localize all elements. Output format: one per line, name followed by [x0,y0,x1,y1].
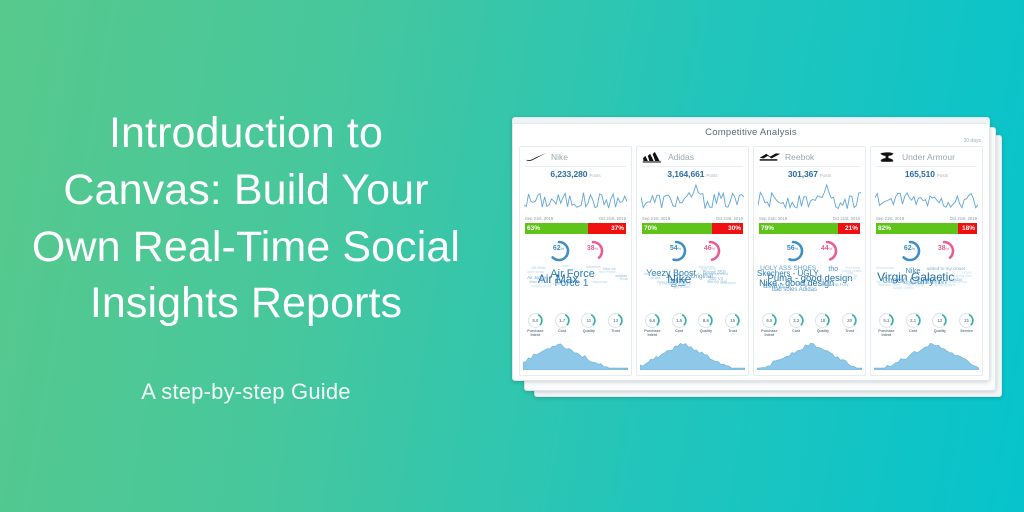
stack-layer-front: Competitive Analysis 30 days Nike6,233,2… [512,117,990,381]
date-start: Sep 21st, 2019 [876,216,904,221]
word-cloud-term[interactable]: Vapormax [592,281,607,284]
gauge-female-value: 38% [931,245,957,252]
metric-label: Trust [728,329,737,333]
metric-label: Purchase Intent [874,329,900,337]
metric-item[interactable]: 12Quality [927,313,953,337]
word-cloud-term[interactable]: new release [599,271,616,274]
word-cloud-term[interactable]: Adidas woman [893,287,914,290]
metric-item[interactable]: 1.7Cost [549,313,575,337]
metric-label: Service [960,329,973,333]
metric-label: Trust [611,329,620,333]
metric-item[interactable]: 5.0Purchase Intent [523,313,549,337]
word-cloud-term[interactable]: Under Armour [948,281,968,284]
reebok-vector-logo [759,151,781,164]
volume-sparkline [641,180,744,216]
gauge-male[interactable]: 62% [897,240,923,262]
word-cloud-term[interactable]: HOVR [962,272,971,275]
metric-gauge: 2.1 [906,313,921,328]
gauge-male-value: 62% [897,245,923,252]
brand-header: Under Armour [871,147,982,165]
metric-item[interactable]: 21Service [954,313,980,337]
word-cloud-term[interactable]: Jordan Retro [552,283,572,286]
date-end: Oct 21st, 2019 [950,216,977,221]
gauge-female[interactable]: 44% [814,240,840,262]
date-end: Oct 21st, 2019 [716,216,743,221]
metric-gauge: 5.1 [879,313,894,328]
brand-cards-container: Nike6,233,280PostsSep 21st, 2019Oct 21st… [513,146,989,380]
sparkline-date-axis: Sep 21st, 2019Oct 21st, 2019 [871,216,982,221]
metric-gauge: 12 [932,313,947,328]
metric-label: Cost [675,329,683,333]
word-cloud-term[interactable]: tho [828,266,838,273]
metric-gauge: 1.7 [555,313,570,328]
gender-gauges: 62%38% [871,234,982,265]
metric-gauge: 18 [815,313,830,328]
metric-label: Purchase Intent [757,329,783,337]
post-count-label: Posts [937,173,948,178]
volume-sparkline [524,180,627,216]
gauge-female[interactable]: 38% [580,240,606,262]
sentiment-negative: 18% [958,223,977,234]
gauge-male-value: 62% [546,245,572,252]
brand-card[interactable]: Adidas3,164,661PostsSep 21st, 2019Oct 21… [636,146,749,376]
page-subtitle: A step-by-step Guide [141,378,350,407]
nike-swoosh-logo [525,151,547,164]
dashboard-header: Competitive Analysis 30 days [513,124,989,146]
trend-area-chart [523,340,628,370]
metric-label: Quality [700,329,712,333]
sentiment-positive: 70% [642,223,712,234]
post-count: 3,164,661Posts [637,167,748,180]
post-count: 6,233,280Posts [520,167,631,180]
metric-gauge: 20 [842,313,857,328]
gauge-male-value: 54% [663,245,689,252]
metric-gauge: 5.0 [528,313,543,328]
metric-gauge: 6.5 [762,313,777,328]
gauge-male[interactable]: 54% [663,240,689,262]
post-count-value: 3,164,661 [667,169,704,179]
volume-sparkline [875,180,978,216]
word-cloud-term[interactable]: Zoom [561,265,570,268]
dashboard: Competitive Analysis 30 days Nike6,233,2… [513,118,989,380]
sentiment-negative: 21% [838,223,860,234]
date-end: Oct 21st, 2019 [599,216,626,221]
metric-item[interactable]: 2.1Cost [900,313,926,337]
sparkline-date-axis: Sep 21st, 2019Oct 21st, 2019 [520,216,631,221]
metric-label: Purchase Intent [523,329,549,337]
gauge-male[interactable]: 56% [780,240,806,262]
date-range-badge[interactable]: 30 days [963,138,981,144]
sentiment-negative: 37% [588,223,626,234]
date-start: Sep 21st, 2019 [525,216,553,221]
metric-label: Quality [934,329,946,333]
sparkline-date-axis: Sep 21st, 2019Oct 21st, 2019 [637,216,748,221]
metric-item[interactable]: 15Trust [720,313,746,337]
adidas-trefoil-logo [642,151,664,164]
metric-gauge: 1.5 [672,313,687,328]
word-cloud-term[interactable]: white shoes [527,271,544,274]
sentiment-negative: 30% [712,223,743,234]
gauge-female[interactable]: 46% [697,240,723,262]
gender-gauges: 56%44% [754,234,865,265]
metric-item[interactable]: 8.6Quality [693,313,719,337]
metric-label: Cost [792,329,800,333]
metric-gauge: 2.2 [789,313,804,328]
gender-gauges: 54%46% [637,234,748,265]
brand-card[interactable]: Under Armour165,510PostsSep 21st, 2019Oc… [870,146,983,376]
metric-label: Cost [909,329,917,333]
metric-gauge: 8.6 [698,313,713,328]
gauge-female[interactable]: 38% [931,240,957,262]
post-count-value: 6,233,280 [550,169,587,179]
gender-gauges: 62%38% [520,234,631,265]
sentiment-bar: 70%30% [642,223,743,234]
metric-gauge: 11 [581,313,596,328]
sentiment-positive: 79% [759,223,838,234]
gauge-female-value: 38% [580,245,606,252]
metric-gauge: 15 [725,313,740,328]
metrics-row: 5.0Purchase Intent1.7Cost11Quality13Trus… [520,312,631,337]
page-title: Introduction to Canvas: Build Your Own R… [26,105,466,332]
metric-gauge: 6.6 [645,313,660,328]
metric-label: Cost [558,329,566,333]
post-count-value: 301,367 [788,169,818,179]
metric-item[interactable]: 20Trust [837,313,863,337]
gauge-male[interactable]: 62% [546,240,572,262]
word-cloud-term[interactable]: sneakers [586,266,601,270]
trend-area-chart [640,340,745,370]
metric-label: Quality [817,329,829,333]
word-cloud-term[interactable]: Instapump Fury [818,283,849,287]
brand-name: Under Armour [902,152,955,162]
gauge-male-value: 56% [780,245,806,252]
sentiment-bar: 79%21% [759,223,860,234]
gauge-female-value: 44% [814,245,840,252]
word-cloud: Air ForceAir MaxForce 1Air JordanMax 270… [523,265,628,312]
brand-name: Reebok [785,152,814,162]
word-cloud-term[interactable]: training shoe [954,275,972,278]
trend-area-chart [757,340,862,370]
sparkline-date-axis: Sep 21st, 2019Oct 21st, 2019 [754,216,865,221]
date-start: Sep 21st, 2019 [642,216,670,221]
trend-area-chart [874,340,979,370]
post-count: 165,510Posts [871,167,982,180]
brand-header: Adidas [637,147,748,165]
word-cloud-term[interactable]: Crossfit [845,278,856,281]
word-cloud: Nikeadded to my closetVirgin GalacticChe… [874,265,979,312]
word-cloud-term[interactable]: Resurrection [876,267,894,270]
word-cloud-term[interactable]: lines on fur [701,268,717,271]
gauge-female-value: 46% [697,245,723,252]
slide-text-pane: Introduction to Canvas: Build Your Own R… [0,0,492,512]
word-cloud-term[interactable]: my Poshmark [876,281,895,284]
metric-item[interactable]: 18Quality [810,313,836,337]
dashboard-screenshot-stack: Competitive Analysis 30 days Nike6,233,2… [512,117,1010,395]
volume-sparkline [758,180,861,216]
sentiment-positive: 63% [525,223,588,234]
metric-label: Quality [583,329,595,333]
dashboard-title: Competitive Analysis [513,127,989,138]
word-cloud-term[interactable]: sports apparel [935,284,955,287]
metric-item[interactable]: 1.5Cost [666,313,692,337]
metric-label: Purchase Intent [640,329,666,337]
metric-gauge: 13 [608,313,623,328]
word-cloud-term[interactable]: running shoes [531,285,551,288]
brand-name: Nike [551,152,568,162]
sentiment-positive: 82% [876,223,958,234]
metrics-row: 5.1Purchase Intent2.1Cost12Quality21Serv… [871,312,982,337]
post-count: 301,367Posts [754,167,865,180]
post-count-label: Posts [589,173,600,178]
metrics-row: 6.6Purchase Intent1.5Cost8.6Quality15Tru… [637,312,748,337]
metric-item[interactable]: 13Trust [603,313,629,337]
word-cloud: UGLY ASS SHOESthoSkechers - UGLYPuma - g… [757,265,862,312]
post-count-label: Posts [706,173,717,178]
word-cloud-term[interactable]: Max 270 [529,280,544,284]
metric-item[interactable]: 6.5Purchase Intent [757,313,783,337]
brand-card[interactable]: Reebok301,367PostsSep 21st, 2019Oct 21st… [753,146,866,376]
post-count-label: Posts [820,173,831,178]
date-start: Sep 21st, 2019 [759,216,787,221]
word-cloud-term[interactable]: bad soles Adidas [772,287,817,293]
under-armour-logo [876,151,898,164]
metrics-row: 6.5Purchase Intent2.2Cost18Quality20Trus… [754,312,865,337]
metric-item[interactable]: 5.1Purchase Intent [874,313,900,337]
metric-item[interactable]: 6.6Purchase Intent [640,313,666,337]
word-cloud-term[interactable]: guy is cool [674,286,690,289]
word-cloud: Yeezy BoostNikeOriginal핑크Boost 350350 V2… [640,265,745,312]
metric-item[interactable]: 11Quality [576,313,602,337]
word-cloud-term[interactable]: Sneakers [722,282,736,285]
brand-name: Adidas [668,152,694,162]
brand-header: Reebok [754,147,865,165]
sentiment-bar: 82%18% [876,223,977,234]
sentiment-bar: 63%37% [525,223,626,234]
metric-gauge: 21 [959,313,974,328]
brand-card[interactable]: Nike6,233,280PostsSep 21st, 2019Oct 21st… [519,146,632,376]
date-end: Oct 21st, 2019 [833,216,860,221]
word-cloud-term[interactable]: React [620,278,628,282]
post-count-value: 165,510 [905,169,935,179]
metric-label: Trust [845,329,854,333]
metric-item[interactable]: 2.2Cost [783,313,809,337]
word-cloud-term[interactable]: tan on his chest [703,273,728,277]
brand-header: Nike [520,147,631,165]
